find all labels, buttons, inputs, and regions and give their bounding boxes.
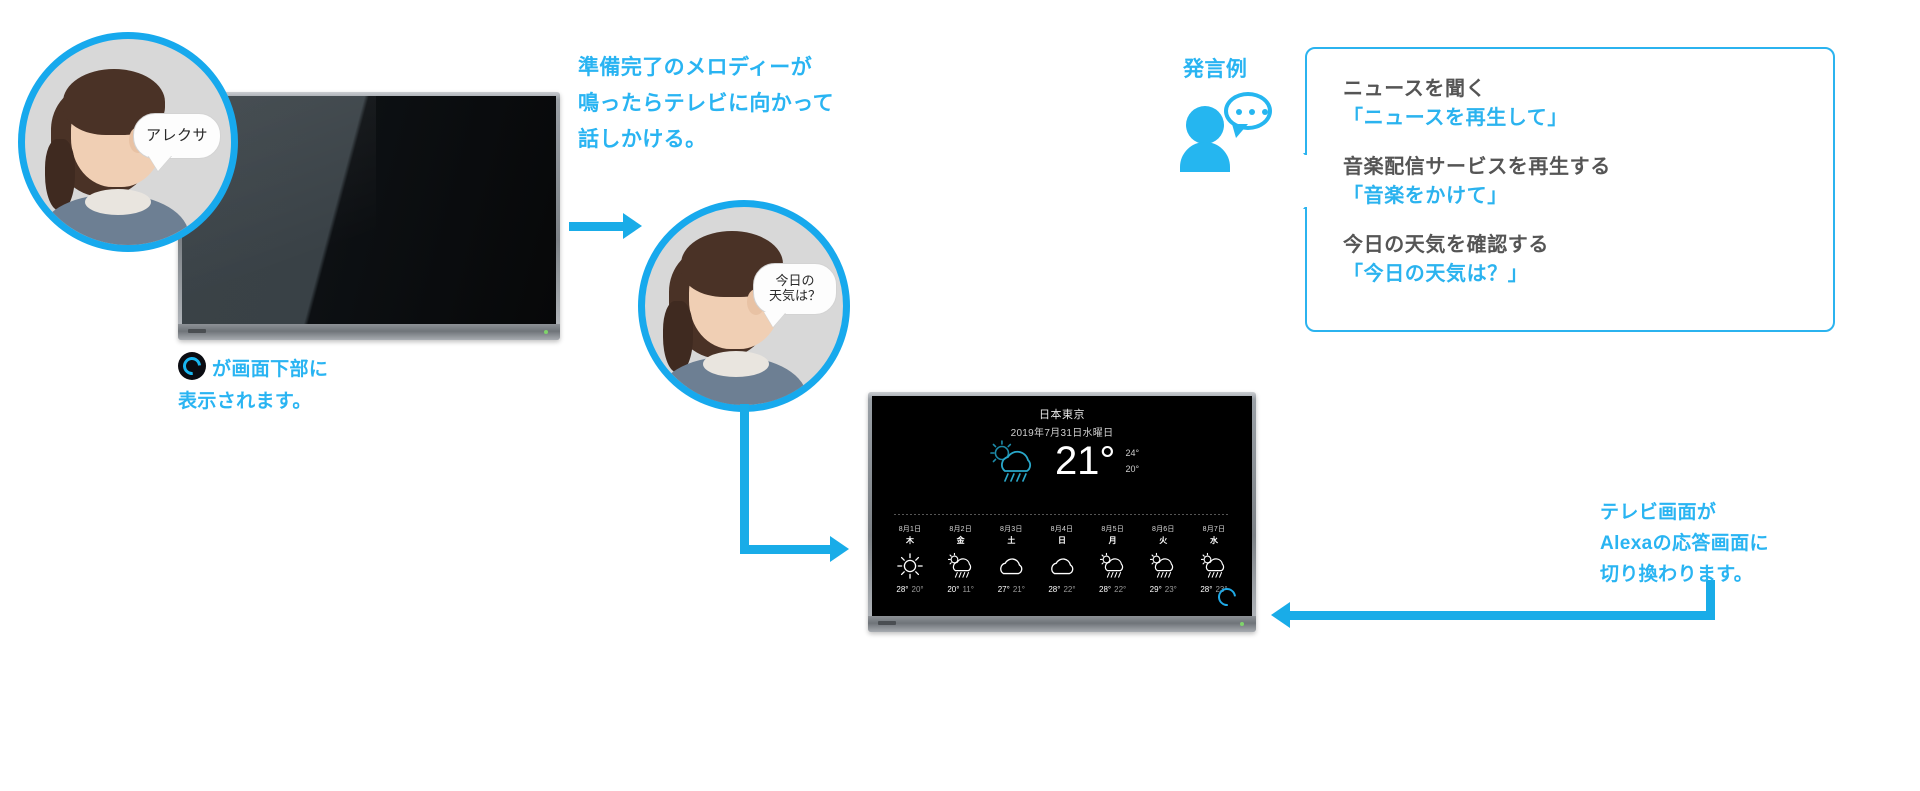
- forecast-temps: 28°22°: [1038, 585, 1086, 594]
- forecast-high: 27°: [998, 585, 1010, 594]
- melody-line-1: 準備完了のメロディーが: [578, 50, 834, 86]
- weather-divider: [894, 514, 1230, 515]
- forecast-date: 8月7日: [1190, 524, 1238, 534]
- speaker-bubble-dots: [1236, 109, 1268, 115]
- weather-high-low: 24° 20°: [1125, 448, 1139, 474]
- indicator-note: が画面下部に 表示されます。: [178, 352, 328, 419]
- weather-forecast-row: 8月1日 木: [886, 524, 1238, 594]
- tv-chin: [178, 324, 560, 340]
- cloudy-icon: [987, 549, 1035, 583]
- forecast-low: 23°: [1165, 585, 1177, 594]
- collar: [85, 189, 151, 215]
- example-title: 音楽配信サービスを再生する: [1343, 153, 1833, 182]
- forecast-low: 20°: [912, 585, 924, 594]
- weather-low: 20°: [1125, 464, 1139, 474]
- example-quote: 「ニュースを再生して」: [1343, 104, 1833, 133]
- tv-weather-response: 日本東京 2019年7月31日水曜日: [868, 392, 1256, 632]
- speech-bubble-alexa: アレクサ: [133, 113, 221, 159]
- person-speech-icon: [1180, 90, 1272, 166]
- forecast-date: 8月6日: [1139, 524, 1187, 534]
- forecast-day: 8月2日 金: [937, 524, 985, 594]
- forecast-weekday: 土: [987, 535, 1035, 546]
- tv-power-led: [1240, 622, 1244, 626]
- indicator-line-1: が画面下部に: [178, 352, 328, 386]
- cloudy-icon: [1038, 549, 1086, 583]
- forecast-day: 8月5日 月: [1089, 524, 1137, 594]
- forecast-day: 8月1日 木: [886, 524, 934, 594]
- forecast-weekday: 日: [1038, 535, 1086, 546]
- speech-bubble-alexa-text: アレクサ: [146, 127, 208, 144]
- examples-label: 発言例: [1183, 52, 1247, 88]
- screen-change-line-1: テレビ画面が: [1600, 498, 1769, 529]
- weather-current: 21° 24° 20°: [985, 438, 1139, 484]
- forecast-day: 8月6日 火: [1139, 524, 1187, 594]
- arrow-1-line: [569, 222, 625, 231]
- indicator-line-2: 表示されます。: [178, 386, 328, 418]
- screen-change-line-3: 切り換わります。: [1600, 560, 1769, 591]
- forecast-high: 28°: [1048, 585, 1060, 594]
- arrow-2-horizontal: [740, 545, 832, 554]
- forecast-date: 8月2日: [937, 524, 985, 534]
- collar: [703, 351, 769, 377]
- weather-date: 2019年7月31日水曜日: [872, 424, 1252, 439]
- dot-1: [1236, 109, 1242, 115]
- forecast-weekday: 木: [886, 535, 934, 546]
- sun-cloud-rain-icon: [1139, 549, 1187, 583]
- tv-power-led: [544, 330, 548, 334]
- examples-callout-box: ニュースを聞く 「ニュースを再生して」 音楽配信サービスを再生する 「音楽をかけ…: [1305, 47, 1835, 332]
- speaker-bubble: [1224, 92, 1272, 130]
- forecast-low: 22°: [1114, 585, 1126, 594]
- forecast-temps: 20°11°: [937, 585, 985, 594]
- person-saying-alexa-circle: アレクサ: [18, 32, 238, 252]
- tv-logo: [878, 621, 896, 625]
- forecast-temps: 28°22°: [1089, 585, 1137, 594]
- forecast-weekday: 火: [1139, 535, 1187, 546]
- forecast-weekday: 水: [1190, 535, 1238, 546]
- indicator-line-1-text: が画面下部に: [212, 359, 328, 380]
- weather-bubble-line-2: 天気は？: [769, 288, 821, 303]
- forecast-date: 8月4日: [1038, 524, 1086, 534]
- sunny-icon: [886, 549, 934, 583]
- forecast-low: 21°: [1013, 585, 1025, 594]
- forecast-date: 8月3日: [987, 524, 1035, 534]
- weather-city: 日本東京: [872, 406, 1252, 422]
- arrow-3-horizontal: [1290, 611, 1715, 620]
- tv-screen-weather: 日本東京 2019年7月31日水曜日: [872, 396, 1252, 616]
- sun-cloud-rain-icon: [1089, 549, 1137, 583]
- tv-logo: [188, 329, 206, 333]
- sun-cloud-rain-icon: [985, 438, 1041, 484]
- arrow-1-head: [623, 213, 642, 239]
- forecast-day: 8月4日 日 28°22°: [1038, 524, 1086, 594]
- sun-cloud-rain-icon: [1190, 549, 1238, 583]
- forecast-temps: 28°20°: [886, 585, 934, 594]
- forecast-weekday: 月: [1089, 535, 1137, 546]
- example-item: 音楽配信サービスを再生する 「音楽をかけて」: [1343, 153, 1833, 211]
- arrow-3-head: [1271, 602, 1290, 628]
- forecast-temps: 29°23°: [1139, 585, 1187, 594]
- melody-instruction: 準備完了のメロディーが 鳴ったらテレビに向かって 話しかける。: [578, 50, 834, 158]
- example-item: 今日の天気を確認する 「今日の天気は？」: [1343, 231, 1833, 289]
- tv-chin: [868, 616, 1256, 632]
- callout-notch-mask: [1304, 155, 1308, 207]
- arrow-2-vertical: [740, 404, 749, 554]
- example-quote: 「音楽をかけて」: [1343, 182, 1833, 211]
- screen-change-note: テレビ画面が Alexaの応答画面に 切り換わります。: [1600, 498, 1769, 590]
- forecast-high: 29°: [1150, 585, 1162, 594]
- speaker-head: [1186, 106, 1224, 144]
- example-item: ニュースを聞く 「ニュースを再生して」: [1343, 75, 1833, 133]
- weather-card: 日本東京 2019年7月31日水曜日: [872, 396, 1252, 616]
- forecast-weekday: 金: [937, 535, 985, 546]
- speech-bubble-weather: 今日の 天気は？: [753, 263, 837, 315]
- example-quote: 「今日の天気は？」: [1343, 260, 1833, 289]
- forecast-day: 8月7日 水: [1190, 524, 1238, 594]
- forecast-high: 20°: [947, 585, 959, 594]
- dot-2: [1249, 109, 1255, 115]
- melody-line-2: 鳴ったらテレビに向かって: [578, 86, 834, 122]
- screen-change-line-2: Alexaの応答画面に: [1600, 529, 1769, 560]
- example-title: ニュースを聞く: [1343, 75, 1833, 104]
- alexa-ring-icon: [1218, 588, 1236, 606]
- ponytail: [45, 139, 75, 211]
- forecast-high: 28°: [1200, 585, 1212, 594]
- weather-current-temp: 21°: [1055, 441, 1116, 481]
- forecast-low: 22°: [1063, 585, 1075, 594]
- forecast-day: 8月3日 土 27°21°: [987, 524, 1035, 594]
- weather-bubble-line-1: 今日の: [775, 273, 814, 288]
- tv-screen-off: [182, 96, 556, 324]
- person-asking-weather-circle: 今日の 天気は？: [638, 200, 850, 412]
- sun-cloud-rain-icon: [937, 549, 985, 583]
- forecast-low: 11°: [962, 585, 974, 594]
- forecast-date: 8月5日: [1089, 524, 1137, 534]
- forecast-high: 28°: [896, 585, 908, 594]
- forecast-date: 8月1日: [886, 524, 934, 534]
- alexa-blue-ring-icon: [178, 352, 206, 380]
- speaker-body: [1180, 142, 1230, 172]
- arrow-2-head: [830, 536, 849, 562]
- forecast-temps: 27°21°: [987, 585, 1035, 594]
- dot-3: [1262, 109, 1268, 115]
- example-title: 今日の天気を確認する: [1343, 231, 1833, 260]
- weather-high: 24°: [1125, 448, 1139, 458]
- ponytail: [663, 301, 693, 373]
- forecast-high: 28°: [1099, 585, 1111, 594]
- diagram-canvas: アレクサ 準備完了のメロディーが 鳴ったらテレビに向かって 話しかける。 が画面…: [0, 0, 1920, 791]
- melody-line-3: 話しかける。: [578, 122, 834, 158]
- speech-bubble-weather-text: 今日の 天気は？: [769, 274, 821, 304]
